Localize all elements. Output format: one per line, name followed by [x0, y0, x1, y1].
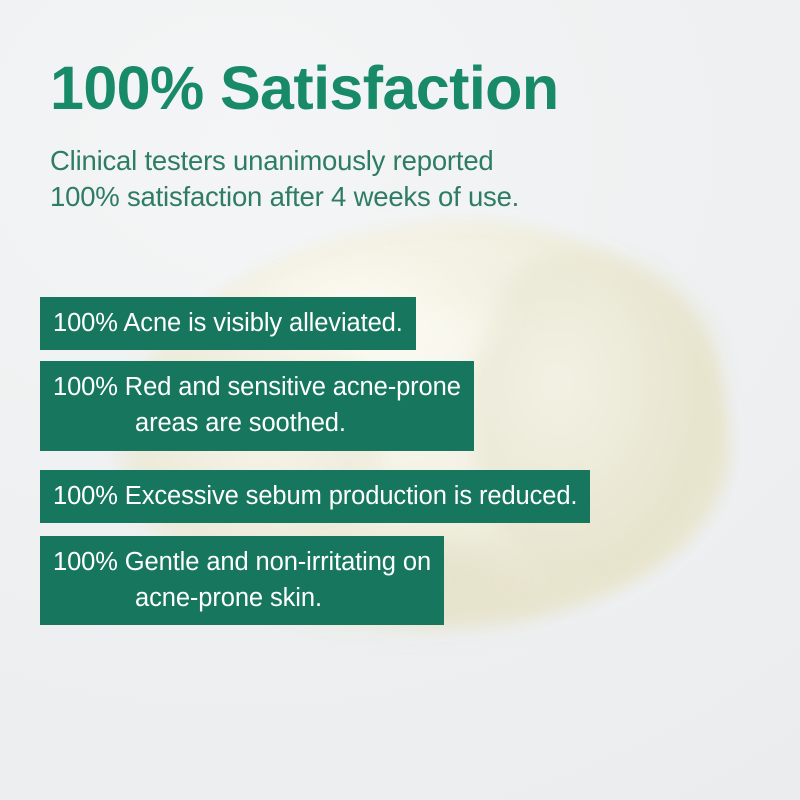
claims-list: 100% Acne is visibly alleviated. 100% Re… [40, 297, 590, 625]
claim-2-line-2: areas are soothed. [53, 405, 461, 441]
claim-1-line-1: 100% Acne is visibly alleviated. [53, 305, 403, 341]
claim-bar-2: 100% Red and sensitive acne-prone areas … [40, 361, 474, 450]
claim-bar-4: 100% Gentle and non-irritating on acne-p… [40, 536, 444, 625]
claim-4-line-1: 100% Gentle and non-irritating on [53, 544, 431, 580]
claim-3-line-1: 100% Excessive sebum production is reduc… [53, 478, 577, 514]
page-title: 100% Satisfaction [50, 57, 559, 119]
subtitle-line-1: Clinical testers unanimously reported [50, 143, 519, 179]
claim-2-line-1: 100% Red and sensitive acne-prone [53, 369, 461, 405]
promo-canvas: 100% Satisfaction Clinical testers unani… [0, 0, 800, 800]
subtitle-line-2: 100% satisfaction after 4 weeks of use. [50, 179, 519, 215]
claim-bar-3: 100% Excessive sebum production is reduc… [40, 470, 590, 523]
subtitle: Clinical testers unanimously reported 10… [50, 143, 519, 215]
claim-4-line-2: acne-prone skin. [53, 580, 431, 616]
claim-bar-1: 100% Acne is visibly alleviated. [40, 297, 416, 350]
